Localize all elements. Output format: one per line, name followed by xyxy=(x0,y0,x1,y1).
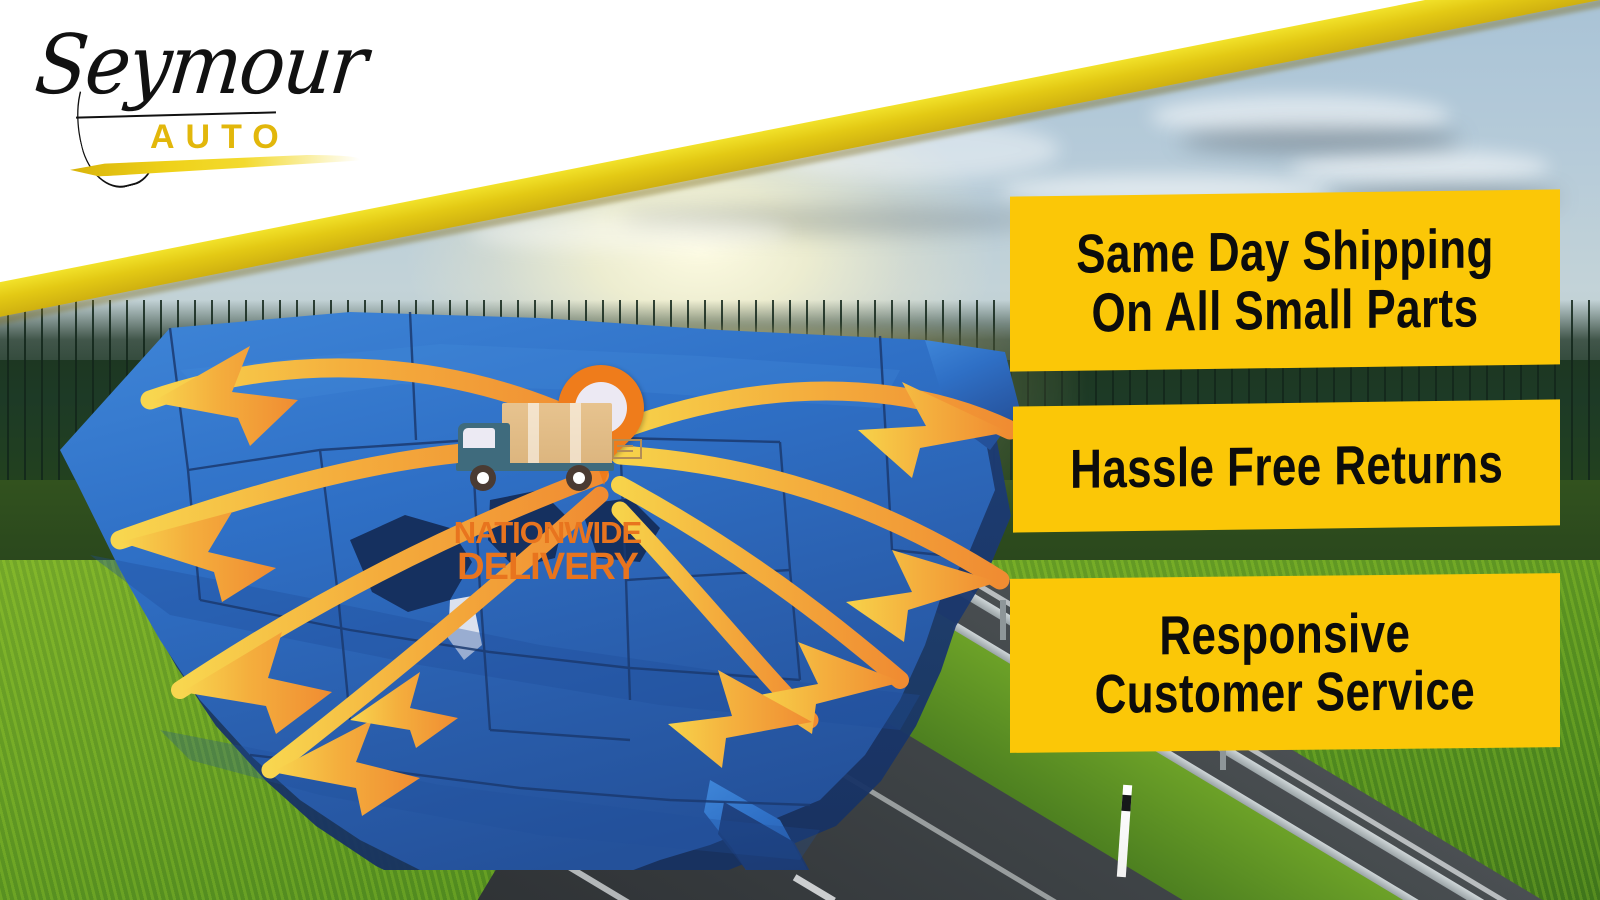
delivery-truck-icon xyxy=(450,403,620,508)
truck-cargo-box xyxy=(502,403,612,465)
brand-logo[interactable]: Seymour AUTO xyxy=(30,18,360,168)
truck-shipping-label-icon xyxy=(612,439,642,459)
truck-wheel xyxy=(470,465,496,491)
cloud-shadow xyxy=(1180,128,1460,152)
callout-same-day-shipping[interactable]: Same Day Shipping On All Small Parts xyxy=(1010,189,1560,371)
callout-hassle-free-returns[interactable]: Hassle Free Returns xyxy=(1013,399,1560,532)
callout-text: Hassle Free Returns xyxy=(1070,434,1503,498)
truck-wheel xyxy=(566,465,592,491)
callout-text: Responsive Customer Service xyxy=(1095,603,1476,724)
truck-window xyxy=(463,428,495,448)
nationwide-label-line2: DELIVERY xyxy=(440,548,655,588)
callout-text: Same Day Shipping On All Small Parts xyxy=(1076,219,1494,341)
cloud xyxy=(1290,150,1550,184)
brand-name: Seymour xyxy=(31,16,370,112)
callout-responsive-customer-service[interactable]: Responsive Customer Service xyxy=(1010,573,1560,753)
promo-banner: Seymour AUTO xyxy=(0,0,1600,900)
nationwide-delivery-graphic: NATIONWIDE DELIVERY xyxy=(440,365,660,580)
brand-subtitle: AUTO xyxy=(150,118,290,157)
nationwide-delivery-label: NATIONWIDE DELIVERY xyxy=(440,517,655,588)
nationwide-label-line1: NATIONWIDE xyxy=(440,517,655,548)
